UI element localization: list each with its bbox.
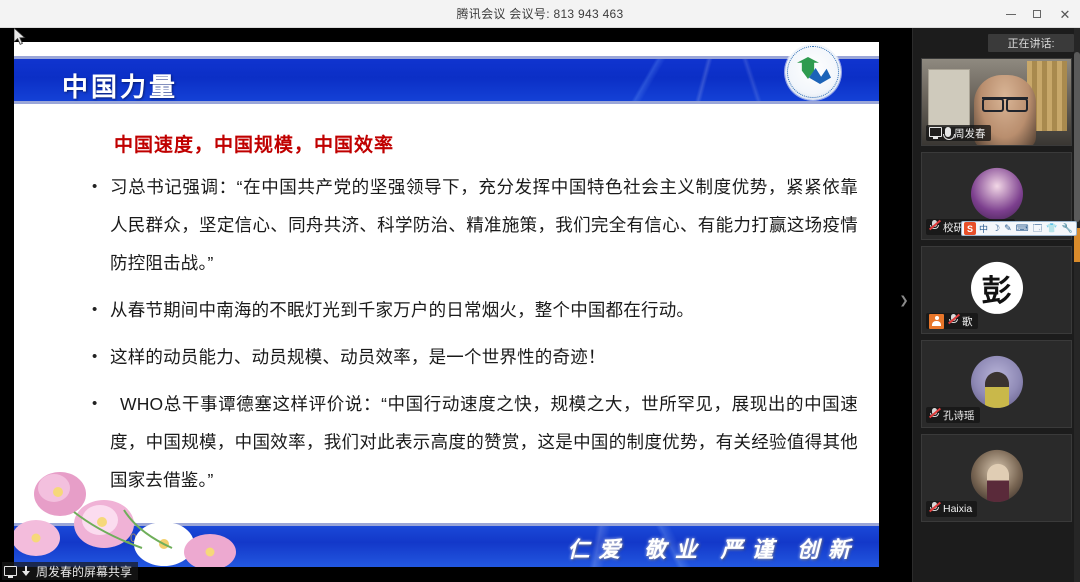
ime-keyboard-icon[interactable]: ⌨ bbox=[1015, 223, 1030, 234]
meeting-id-label: 腾讯会议 会议号: 813 943 463 bbox=[456, 5, 623, 22]
pin-icon[interactable] bbox=[21, 566, 32, 577]
window-titlebar: 腾讯会议 会议号: 813 943 463 ✕ bbox=[0, 0, 1080, 28]
participant-name-chip: 孔诗瑶 bbox=[926, 407, 980, 423]
avatar bbox=[971, 168, 1023, 220]
slide-motto: 仁爱 敬业 严谨 创新 bbox=[567, 532, 859, 564]
university-seal-logo bbox=[785, 44, 841, 100]
participant-name: Haixia bbox=[943, 503, 972, 515]
maximize-button[interactable] bbox=[1024, 0, 1050, 28]
screen-share-icon bbox=[929, 124, 942, 142]
window-controls: ✕ bbox=[998, 0, 1080, 28]
screen-share-status: 周发春的屏幕共享 bbox=[2, 562, 138, 580]
participant-rail: ❯ 正在讲话: 周发春 校研会-张陶欣 彭 bbox=[912, 28, 1080, 582]
shared-screen-stage[interactable]: 中国力量 中国速度，中国规模，中国效率 • 习总书记强调：“在中国共产党的坚强领… bbox=[0, 28, 912, 582]
participant-name: 孔诗瑶 bbox=[943, 408, 975, 423]
participant-name-chip: 歌 bbox=[926, 313, 978, 329]
mic-muted-icon bbox=[948, 312, 959, 330]
slide-bullet: • 习总书记强调：“在中国共产党的坚强领导下，充分发挥中国特色社会主义制度优势，… bbox=[88, 168, 858, 282]
sogou-logo-icon: S bbox=[964, 222, 976, 235]
slide-bullet: • WHO总干事谭德塞这样评价说：“中国行动速度之快，规模之大，世所罕见，展现出… bbox=[88, 385, 858, 499]
ime-lang-icon[interactable]: 中 bbox=[978, 222, 989, 235]
rail-scrollbar[interactable] bbox=[1074, 28, 1080, 582]
participant-tile[interactable]: 周发春 bbox=[921, 58, 1072, 146]
share-owner-label: 周发春的屏幕共享 bbox=[36, 563, 132, 580]
screen-share-icon bbox=[4, 566, 17, 576]
slide-subtitle: 中国速度，中国规模，中国效率 bbox=[114, 130, 394, 157]
mic-muted-icon bbox=[929, 218, 940, 236]
minimize-button[interactable] bbox=[998, 0, 1024, 28]
ime-pen-icon[interactable]: ✎ bbox=[1003, 223, 1013, 234]
mic-on-icon bbox=[945, 124, 951, 142]
slide-bullet: • 这样的动员能力、动员规模、动员效率，是一个世界性的奇迹！ bbox=[88, 338, 858, 376]
ime-panel-icon[interactable]: 🗔 bbox=[1032, 221, 1044, 237]
avatar bbox=[971, 356, 1023, 408]
participant-tile[interactable]: 孔诗瑶 bbox=[921, 340, 1072, 428]
close-icon: ✕ bbox=[1060, 8, 1071, 21]
speaking-indicator: 正在讲话: bbox=[988, 34, 1074, 52]
participant-name: 周发春 bbox=[954, 126, 986, 141]
participant-name: 歌 bbox=[962, 314, 973, 329]
avatar bbox=[971, 450, 1023, 502]
scrollbar-thumb[interactable] bbox=[1074, 52, 1080, 222]
bullet-text: 这样的动员能力、动员规模、动员效率，是一个世界性的奇迹！ bbox=[110, 338, 858, 376]
slide-page-number: 13 / 2020 bbox=[100, 531, 150, 545]
presentation-slide: 中国力量 中国速度，中国规模，中国效率 • 习总书记强调：“在中国共产党的坚强领… bbox=[14, 42, 879, 567]
ime-moon-icon[interactable]: ☽ bbox=[991, 223, 1001, 234]
bullet-marker: • bbox=[88, 291, 110, 329]
slide-title: 中国力量 bbox=[62, 67, 178, 104]
chevron-right-icon: ❯ bbox=[899, 294, 908, 307]
ime-toolbar[interactable]: S 中 ☽ ✎ ⌨ 🗔 👕 🔧 bbox=[961, 221, 1077, 236]
slide-bullet-list: • 习总书记强调：“在中国共产党的坚强领导下，充分发挥中国特色社会主义制度优势，… bbox=[88, 168, 858, 508]
meeting-window: 腾讯会议 会议号: 813 943 463 ✕ 中国力量 中国速度，中国规模，中… bbox=[0, 0, 1080, 582]
mic-muted-icon bbox=[929, 406, 940, 424]
slide-footer-banner: 仁爱 敬业 严谨 创新 bbox=[14, 523, 879, 567]
maximize-icon bbox=[1033, 10, 1041, 18]
bullet-marker: • bbox=[88, 168, 110, 282]
ime-settings-icon[interactable]: 🔧 bbox=[1061, 223, 1074, 234]
participant-name-chip: 周发春 bbox=[926, 125, 991, 141]
bullet-marker: • bbox=[88, 338, 110, 376]
host-person-icon bbox=[929, 314, 944, 329]
rail-collapse-button[interactable]: ❯ bbox=[897, 280, 911, 320]
mic-muted-icon bbox=[929, 500, 940, 518]
slide-bullet: • 从春节期间中南海的不眠灯光到千家万户的日常烟火，整个中国都在行动。 bbox=[88, 291, 858, 329]
close-button[interactable]: ✕ bbox=[1050, 0, 1080, 28]
slide-title-banner: 中国力量 bbox=[14, 56, 879, 104]
bullet-text: 习总书记强调：“在中国共产党的坚强领导下，充分发挥中国特色社会主义制度优势，紧紧… bbox=[110, 168, 858, 282]
minimize-icon bbox=[1006, 14, 1016, 15]
participant-tile[interactable]: 彭 歌 bbox=[921, 246, 1072, 334]
bullet-text: WHO总干事谭德塞这样评价说：“中国行动速度之快，规模之大，世所罕见，展现出的中… bbox=[110, 385, 858, 499]
avatar-initial: 彭 bbox=[982, 266, 1012, 310]
bullet-text: 从春节期间中南海的不眠灯光到千家万户的日常烟火，整个中国都在行动。 bbox=[110, 291, 858, 329]
ime-skin-icon[interactable]: 👕 bbox=[1045, 223, 1058, 234]
participant-tile[interactable]: Haixia bbox=[921, 434, 1072, 522]
mouse-cursor bbox=[14, 28, 26, 46]
bullet-marker: • bbox=[88, 385, 110, 499]
participant-name-chip: Haixia bbox=[926, 501, 977, 517]
avatar: 彭 bbox=[971, 262, 1023, 314]
